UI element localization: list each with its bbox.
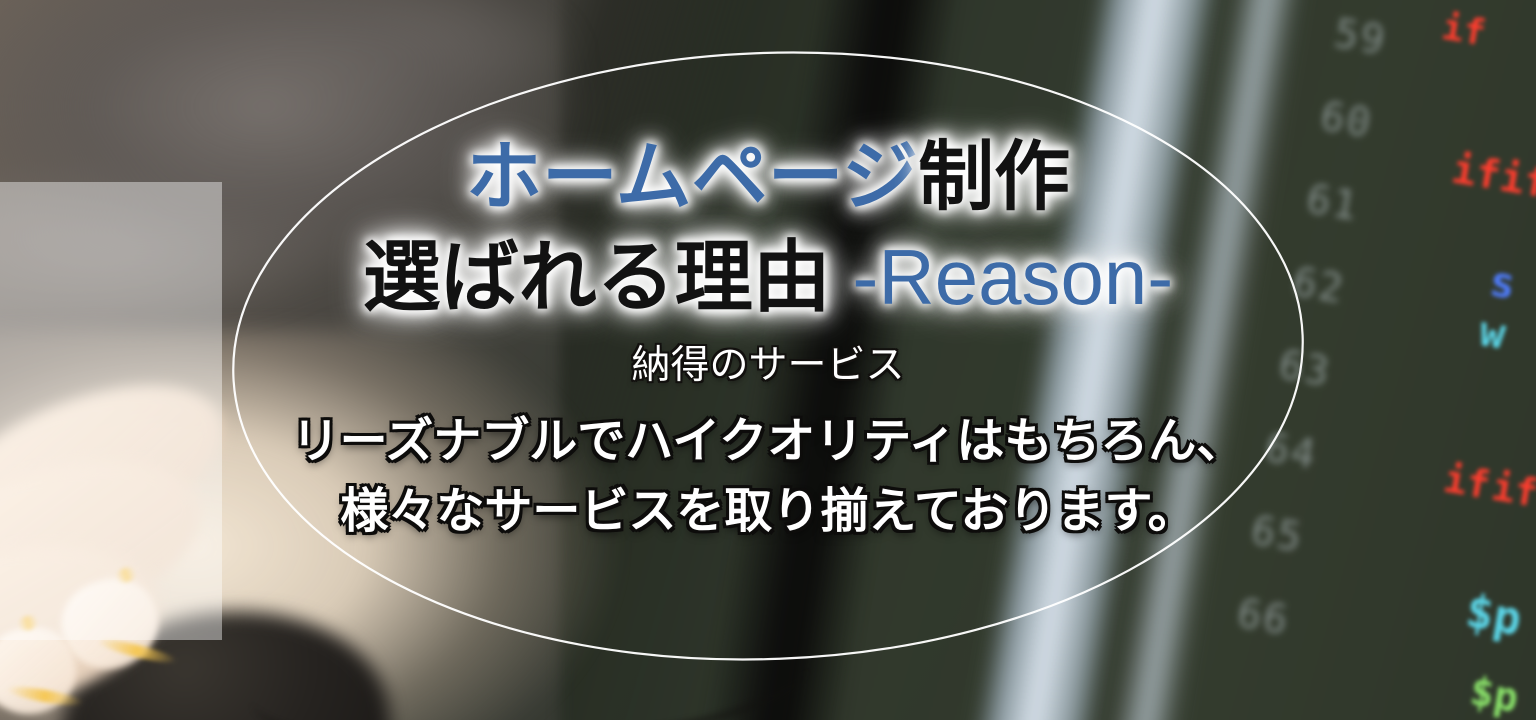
headline-line-2-primary: 選ばれる理由 xyxy=(363,233,831,321)
code-token: if xyxy=(1439,7,1489,55)
code-token: $p xyxy=(1462,584,1526,646)
hero-banner: 59 60 61 62 63 64 65 66 if if if s w if … xyxy=(0,0,1536,720)
body-text-line-1: リーズナブルでハイクオリティはもちろん、 xyxy=(0,418,1536,466)
line-number: 59 xyxy=(1310,0,1393,83)
background-mouse-cable xyxy=(248,602,812,720)
code-token: $p xyxy=(1467,668,1522,720)
headline-line-1: ホームページ制作 xyxy=(0,140,1536,216)
line-number: 66 xyxy=(1213,569,1296,663)
subheading: 納得のサービス xyxy=(0,346,1536,385)
body-text-line-2: 様々なサービスを取り揃えております。 xyxy=(0,488,1536,536)
headline-line-2: 選ばれる理由 -Reason- xyxy=(0,238,1536,316)
headline-line-1-accent: 制作 xyxy=(918,135,1070,220)
headline-line-2-english: -Reason- xyxy=(831,233,1173,321)
headline-line-1-primary: ホームページ xyxy=(466,135,918,220)
